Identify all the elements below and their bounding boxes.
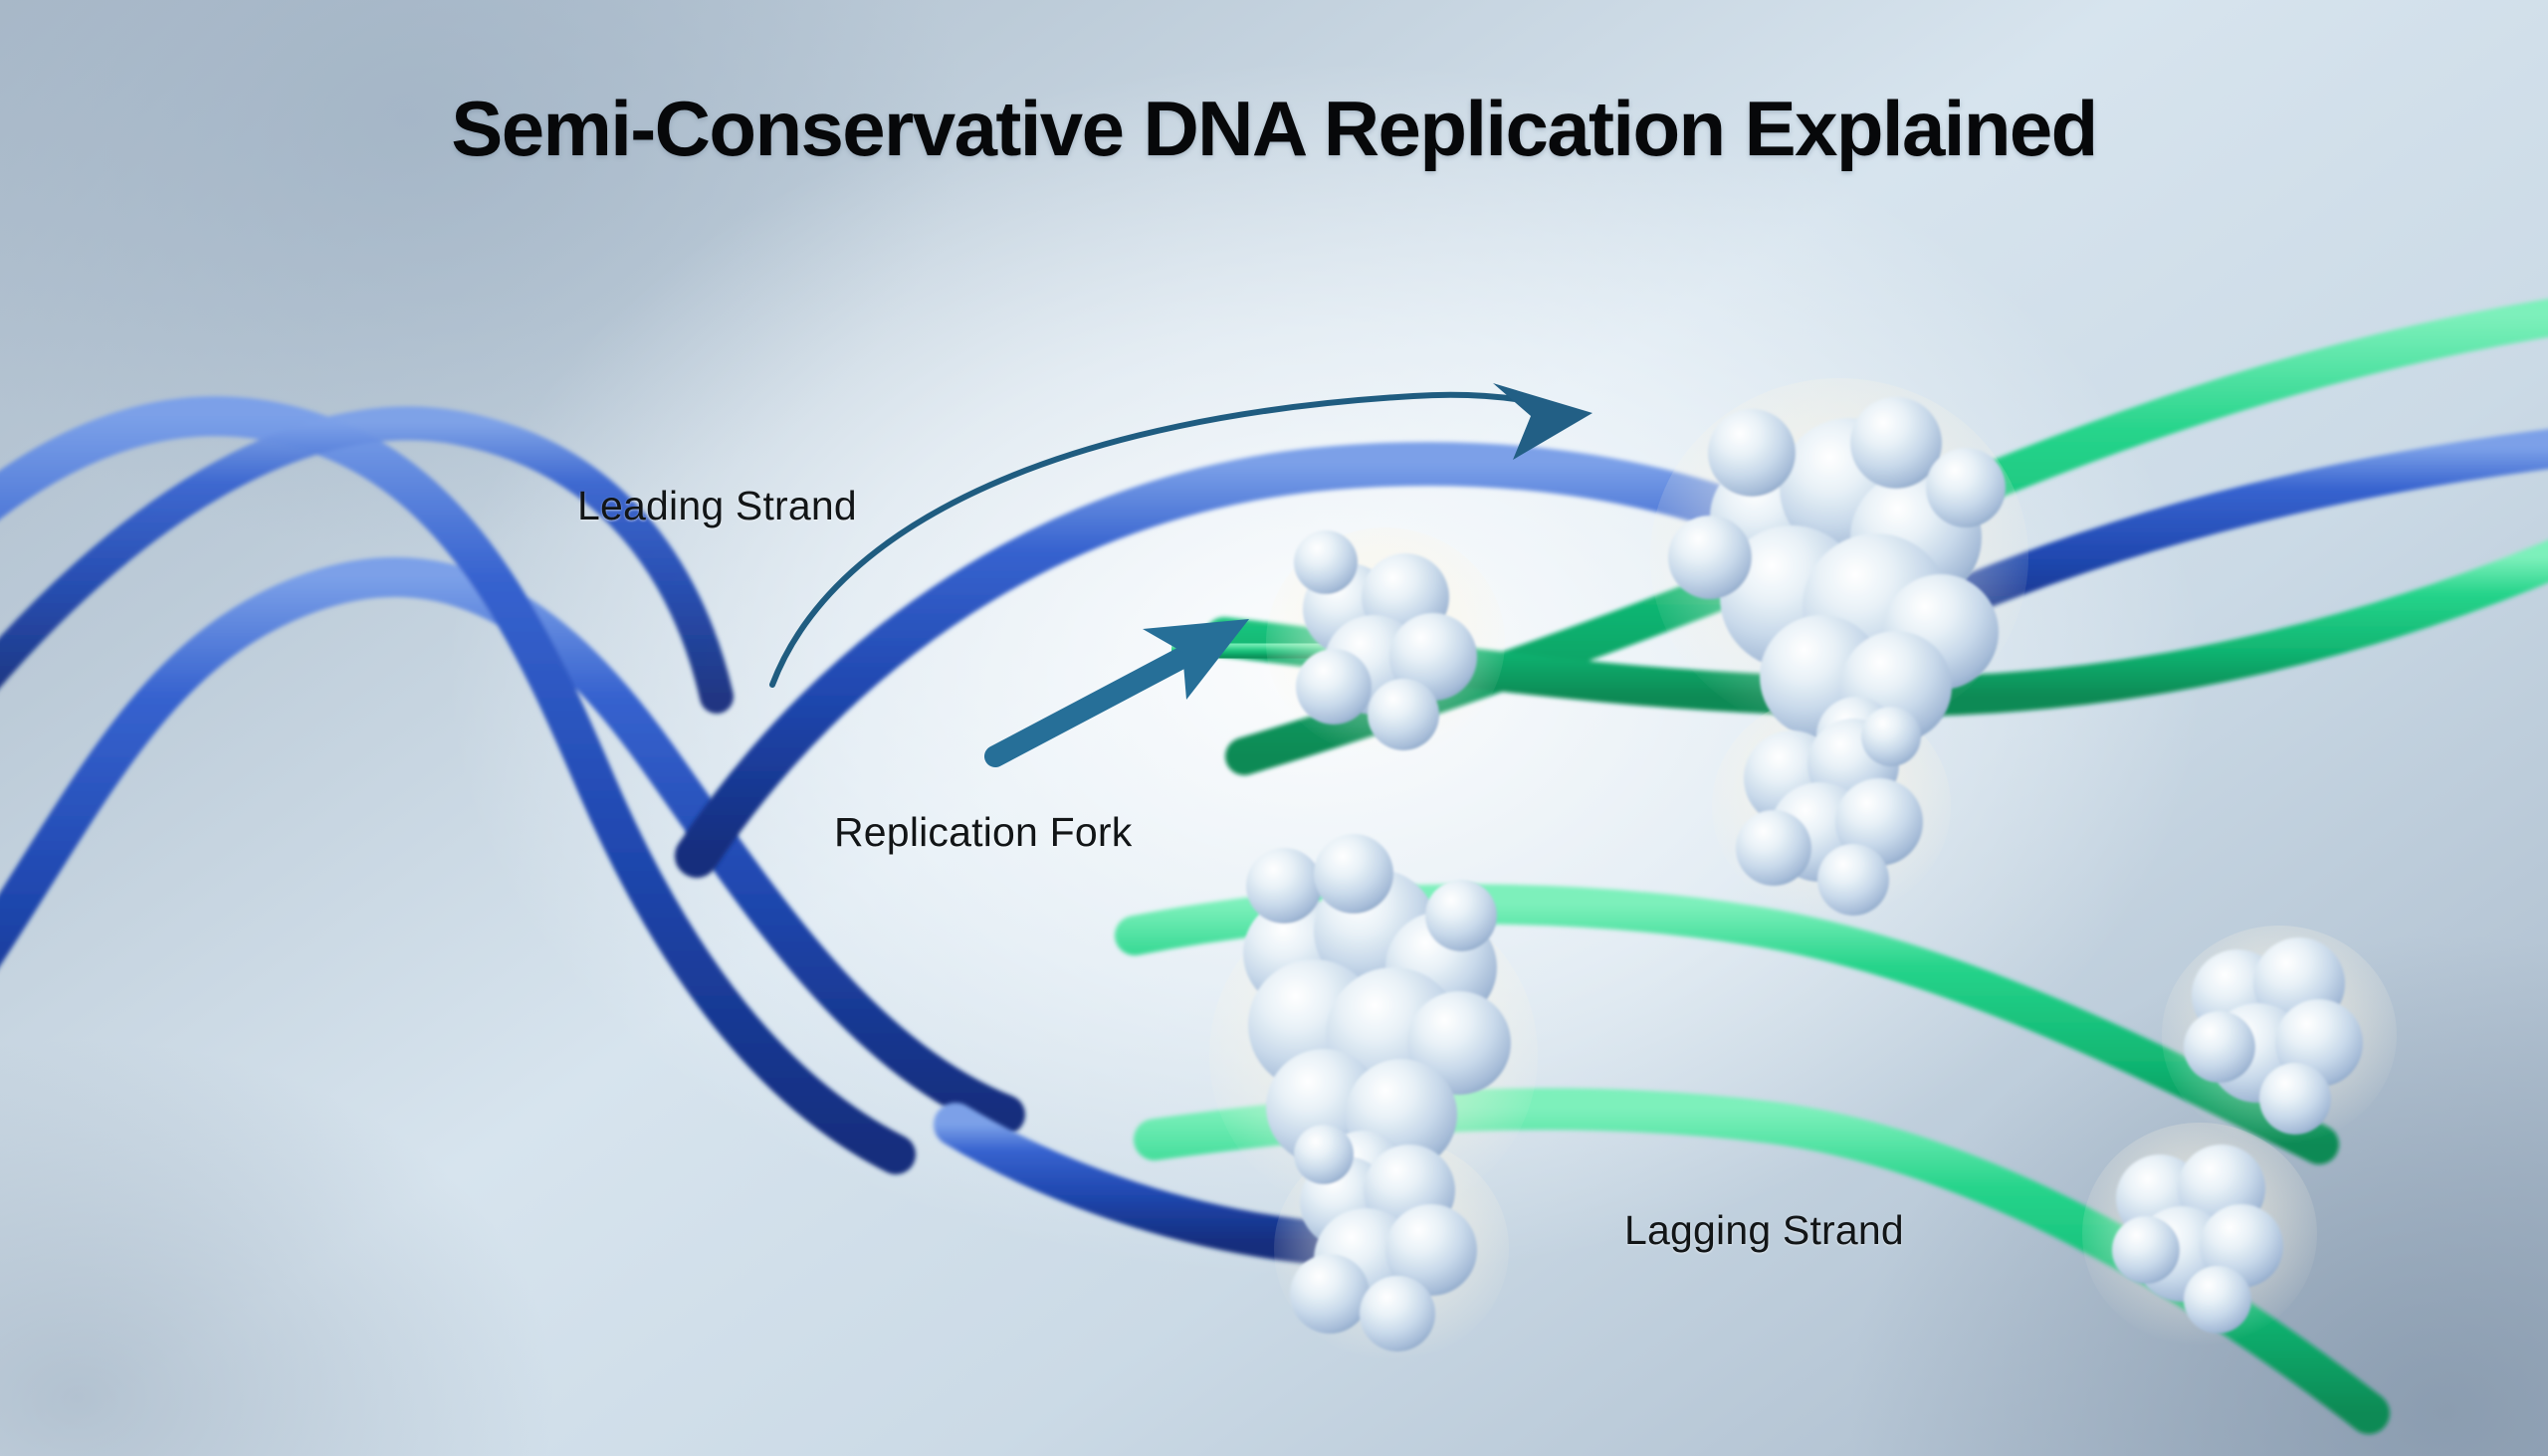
label-leading-strand: Leading Strand — [577, 483, 857, 529]
page-title: Semi-Conservative DNA Replication Explai… — [0, 84, 2548, 174]
illustration-canvas: Semi-Conservative DNA Replication Explai… — [0, 0, 2548, 1456]
label-replication-fork: Replication Fork — [834, 809, 1132, 856]
dna-replication-diagram — [0, 0, 2548, 1456]
dna-polymerase-leading — [1668, 397, 2006, 776]
label-lagging-strand: Lagging Strand — [1624, 1207, 1904, 1254]
